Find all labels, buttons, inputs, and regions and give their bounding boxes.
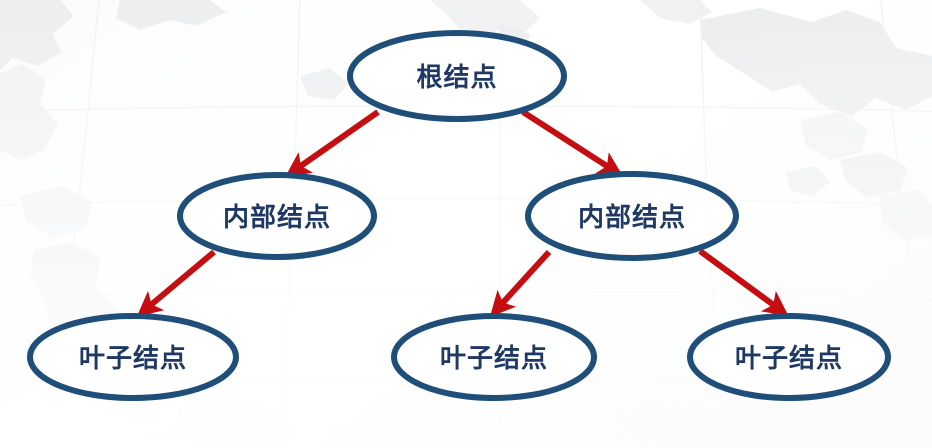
edge-root-to-internal-right bbox=[523, 112, 613, 170]
node-internal-left[interactable]: 内部结点 bbox=[180, 175, 374, 257]
edge-root-to-internal-left bbox=[295, 112, 378, 170]
node-leaf-3[interactable]: 叶子结点 bbox=[690, 316, 888, 398]
node-internal-right-label: 内部结点 bbox=[578, 202, 686, 232]
node-root-label: 根结点 bbox=[416, 62, 497, 92]
node-root[interactable]: 根结点 bbox=[350, 33, 564, 119]
node-leaf-2[interactable]: 叶子结点 bbox=[394, 316, 594, 398]
tree-diagram: 根结点 内部结点 内部结点 叶子结点 叶子结点 叶子结点 bbox=[0, 0, 932, 448]
node-leaf-3-label: 叶子结点 bbox=[735, 343, 843, 373]
edge-internal-right-to-leaf-2 bbox=[498, 252, 549, 308]
edge-internal-right-to-leaf-3 bbox=[700, 251, 779, 309]
node-leaf-1-label: 叶子结点 bbox=[79, 343, 187, 373]
node-leaf-2-label: 叶子结点 bbox=[440, 343, 548, 373]
node-internal-right[interactable]: 内部结点 bbox=[528, 174, 736, 258]
edge-internal-left-to-leaf-1 bbox=[146, 252, 214, 309]
node-internal-left-label: 内部结点 bbox=[223, 202, 331, 232]
slide-canvas: 根结点 内部结点 内部结点 叶子结点 叶子结点 叶子结点 bbox=[0, 0, 932, 448]
node-leaf-1[interactable]: 叶子结点 bbox=[30, 316, 236, 398]
